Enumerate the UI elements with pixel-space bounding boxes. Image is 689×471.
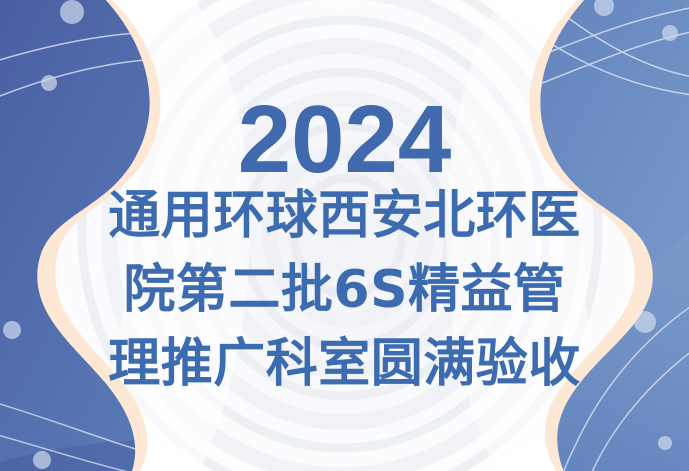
background-artwork xyxy=(0,0,689,471)
poster-canvas: 2024 通用环球西安北环医 院第二批6S精益管 理推广科室圆满验收 xyxy=(0,0,689,471)
